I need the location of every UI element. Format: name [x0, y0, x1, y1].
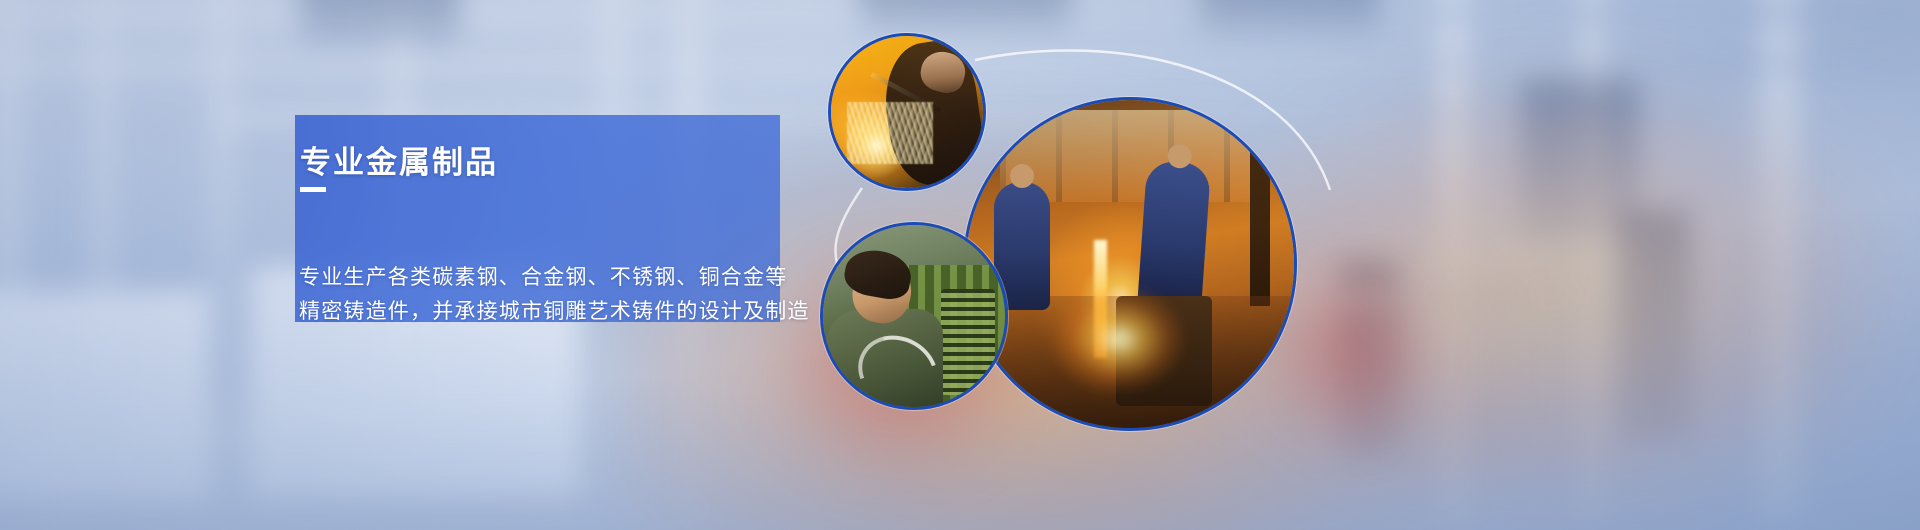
metal-coils [941, 289, 995, 395]
description-text: 专业生产各类碳素钢、合金钢、不锈钢、铜合金等 精密铸造件，并承接城市铜雕艺术铸件… [299, 261, 939, 329]
welding-sparks [847, 102, 933, 164]
foundry-pour-photo [966, 100, 1294, 428]
welding-photo [831, 36, 983, 188]
hero-banner: 专业金属制品 专业生产各类碳素钢、合金钢、不锈钢、铜合金等 精密铸造件，并承接城… [0, 0, 1920, 530]
description-line-1: 专业生产各类碳素钢、合金钢、不锈钢、铜合金等 [299, 261, 939, 295]
medallion-welding [828, 33, 986, 191]
page-title: 专业金属制品 [300, 137, 498, 182]
molten-metal-glow [1054, 286, 1184, 392]
description-line-2: 精密铸造件，并承接城市铜雕艺术铸件的设计及制造 [299, 295, 939, 329]
foundry-post [1250, 106, 1270, 306]
title-divider [300, 187, 326, 192]
medallion-foundry-pour [963, 97, 1297, 431]
